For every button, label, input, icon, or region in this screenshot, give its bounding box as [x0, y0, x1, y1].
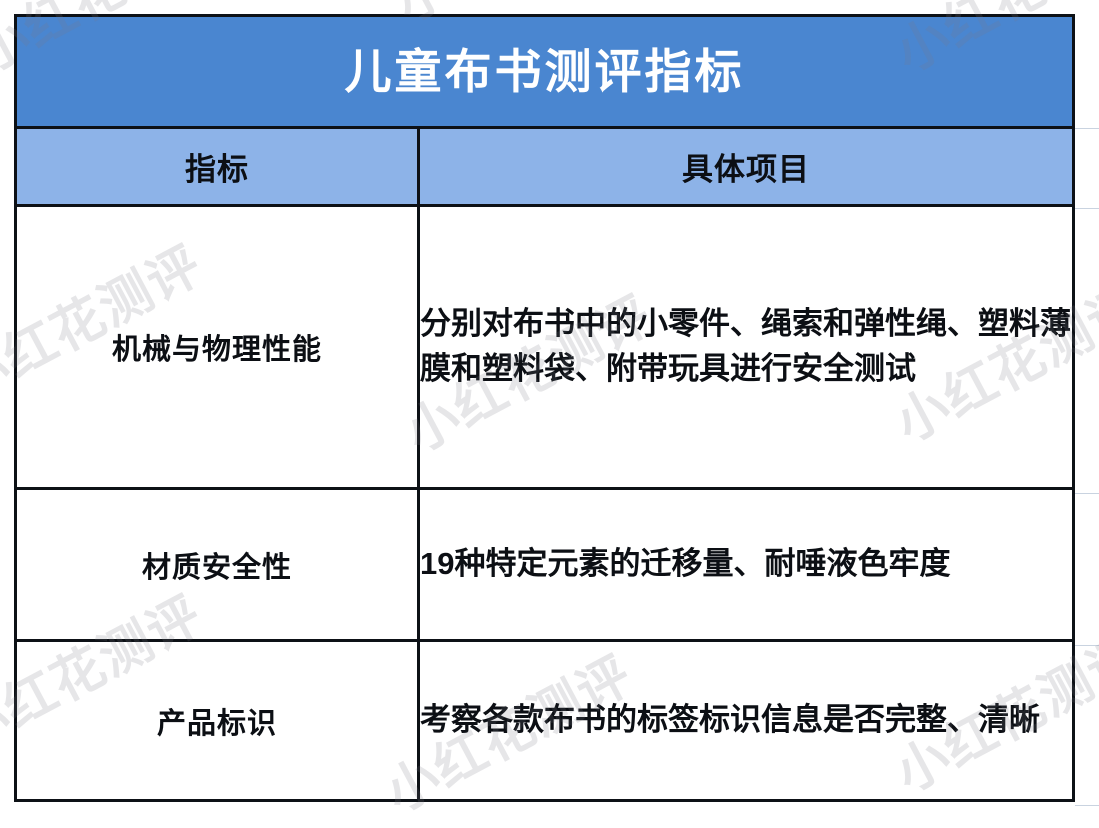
gridline [1075, 208, 1099, 209]
table-row: 产品标识 考察各款布书的标签标识信息是否完整、清晰 [16, 641, 1074, 801]
column-header-indicator: 指标 [16, 128, 419, 206]
gridline [1075, 128, 1099, 129]
detail-cell: 考察各款布书的标签标识信息是否完整、清晰 [419, 641, 1074, 801]
detail-cell: 19种特定元素的迁移量、耐唾液色牢度 [419, 489, 1074, 641]
indicator-cell: 产品标识 [16, 641, 419, 801]
table-header-row: 指标 具体项目 [16, 128, 1074, 206]
detail-cell: 分别对布书中的小零件、绳索和弹性绳、塑料薄膜和塑料袋、附带玩具进行安全测试 [419, 206, 1074, 489]
evaluation-criteria-table: 儿童布书测评指标 指标 具体项目 机械与物理性能 分别对布书中的小零件、绳索和弹… [14, 14, 1075, 802]
gridline [1075, 805, 1099, 806]
table-row: 机械与物理性能 分别对布书中的小零件、绳索和弹性绳、塑料薄膜和塑料袋、附带玩具进… [16, 206, 1074, 489]
gridline [1075, 645, 1099, 646]
table-title-row: 儿童布书测评指标 [16, 16, 1074, 128]
indicator-cell: 机械与物理性能 [16, 206, 419, 489]
gridline [1075, 493, 1099, 494]
page-title: 儿童布书测评指标 [16, 16, 1074, 128]
table-row: 材质安全性 19种特定元素的迁移量、耐唾液色牢度 [16, 489, 1074, 641]
column-header-detail: 具体项目 [419, 128, 1074, 206]
indicator-cell: 材质安全性 [16, 489, 419, 641]
